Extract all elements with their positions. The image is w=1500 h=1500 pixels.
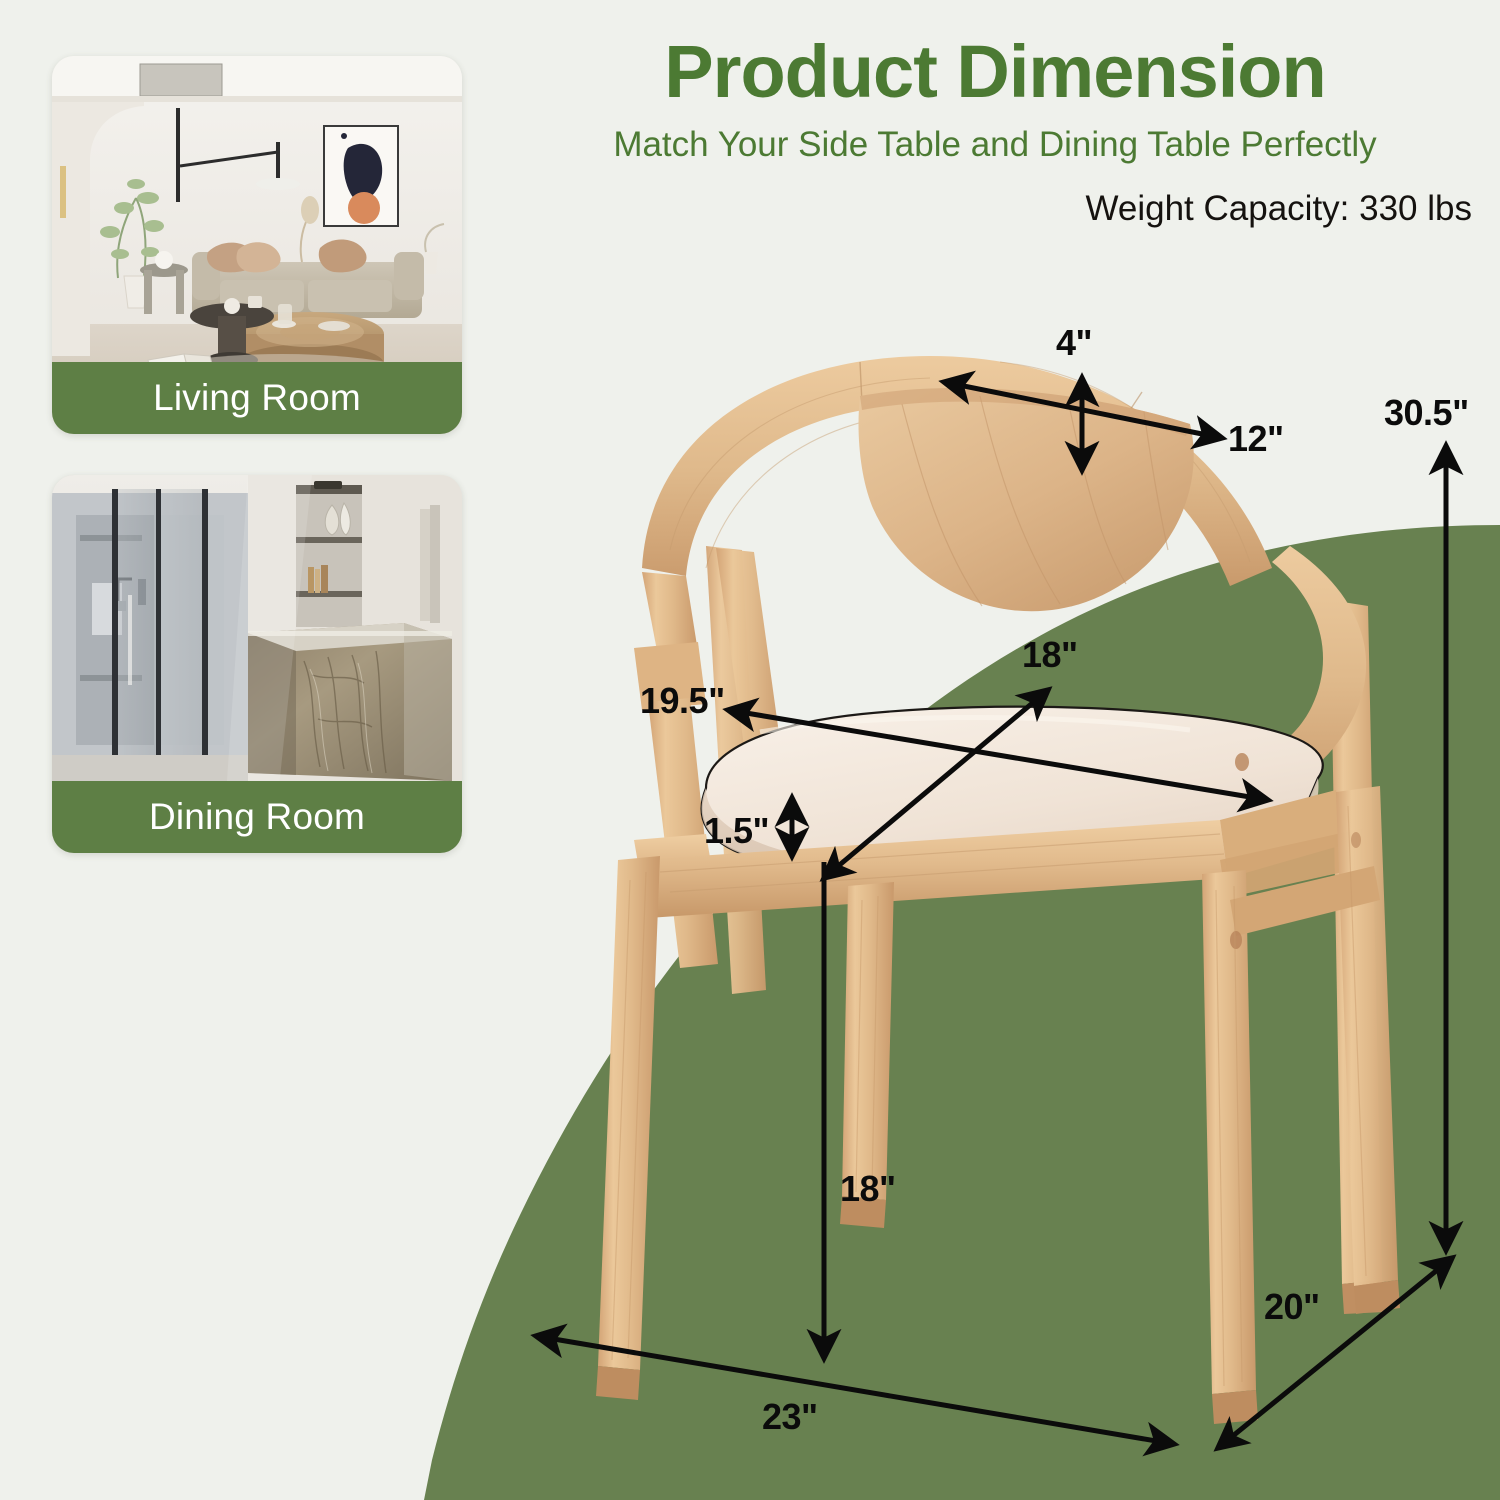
label-seat-depth: 18" xyxy=(1022,634,1078,676)
weight-capacity-text: Weight Capacity: 330 lbs xyxy=(500,189,1490,229)
page-subtitle: Match Your Side Table and Dining Table P… xyxy=(500,125,1490,165)
label-backrest-width: 12" xyxy=(1228,418,1284,460)
label-overall-depth: 20" xyxy=(1264,1286,1320,1328)
page-title: Product Dimension xyxy=(500,34,1490,111)
header: Product Dimension Match Your Side Table … xyxy=(500,34,1490,229)
wooden-dining-chair-illustration xyxy=(530,300,1500,1500)
card-label-dining-room: Dining Room xyxy=(52,781,462,853)
card-label-living-room: Living Room xyxy=(52,362,462,434)
label-cushion-thickness: 1.5" xyxy=(704,810,769,852)
scene-card-dining-room[interactable]: Dining Room xyxy=(52,475,462,853)
label-seat-width: 19.5" xyxy=(640,680,725,722)
scene-card-living-room[interactable]: Living Room xyxy=(52,56,462,434)
infographic-canvas: Product Dimension Match Your Side Table … xyxy=(0,0,1500,1500)
label-overall-width: 23" xyxy=(762,1396,818,1438)
label-seat-height: 18" xyxy=(840,1168,896,1210)
label-backrest-height: 4" xyxy=(1056,322,1092,364)
label-total-height: 30.5" xyxy=(1384,392,1469,434)
